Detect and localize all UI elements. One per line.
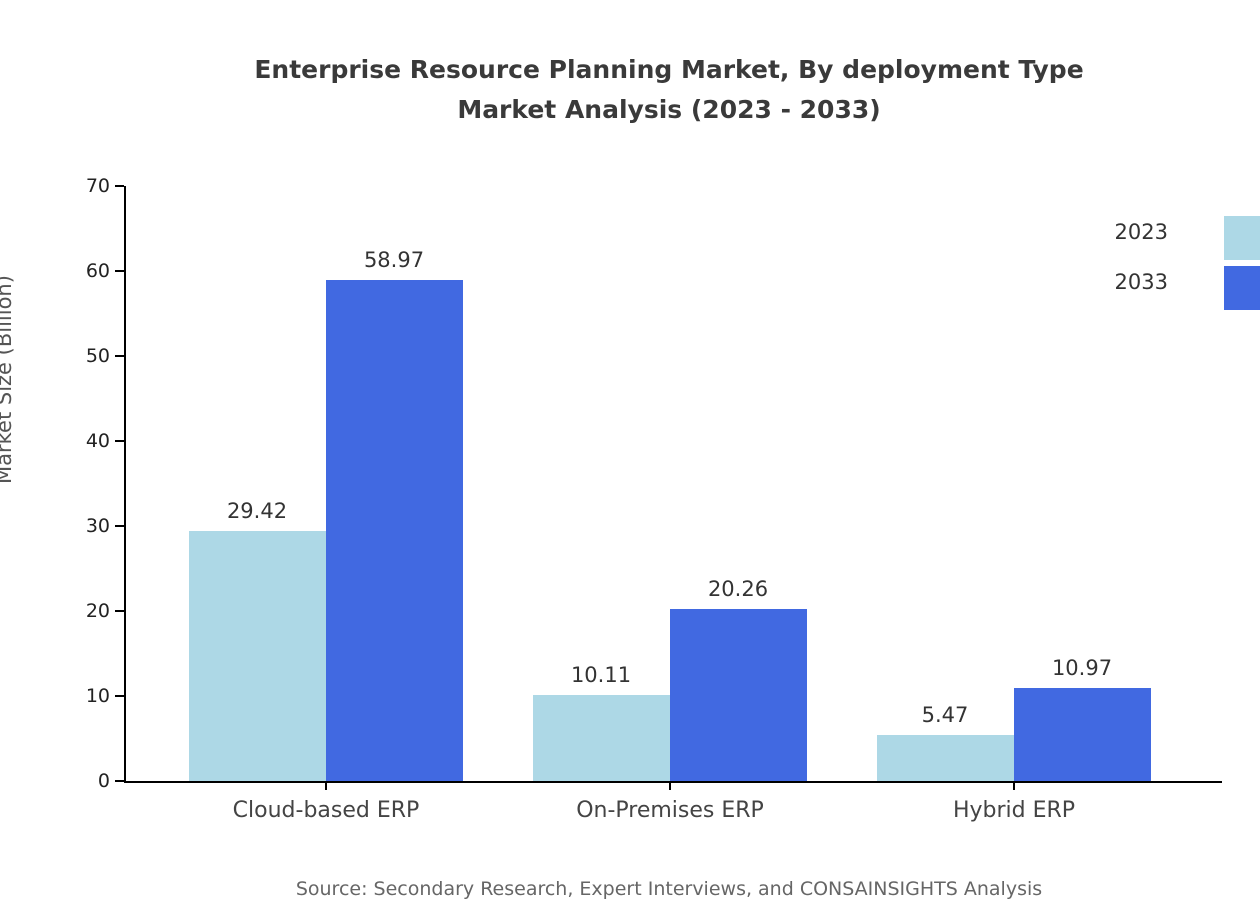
x-tick-cloud-based-erp <box>325 781 327 790</box>
plot-area: 0 10 20 30 40 50 60 70 Cloud-based ERP O… <box>124 186 1222 781</box>
y-tick-20 <box>115 610 124 612</box>
bar-value-2033-cloud-based-erp: 58.97 <box>364 248 424 272</box>
bar-value-2023-on-premises-erp: 10.11 <box>571 663 631 687</box>
x-axis-spine <box>124 781 1222 783</box>
y-tick-50 <box>115 355 124 357</box>
bar-2023-hybrid-erp[interactable] <box>877 735 1014 782</box>
legend-item-2023[interactable]: 2023 <box>1128 216 1260 266</box>
y-tick-label-40: 40 <box>86 430 110 452</box>
legend-label-2023: 2023 <box>1115 220 1168 244</box>
bar-value-2033-on-premises-erp: 20.26 <box>708 577 768 601</box>
bar-value-2033-hybrid-erp: 10.97 <box>1052 656 1112 680</box>
y-tick-label-0: 0 <box>98 770 110 792</box>
source-note: Source: Secondary Research, Expert Inter… <box>0 878 1260 900</box>
legend-label-2033: 2033 <box>1115 270 1168 294</box>
y-tick-label-20: 20 <box>86 600 110 622</box>
bar-2023-on-premises-erp[interactable] <box>533 695 670 781</box>
y-tick-30 <box>115 525 124 527</box>
y-tick-10 <box>115 695 124 697</box>
x-tick-on-premises-erp <box>669 781 671 790</box>
y-tick-70 <box>115 185 124 187</box>
chart-title: Enterprise Resource Planning Market, By … <box>0 50 1260 130</box>
chart-legend: 2023 2033 <box>1128 216 1260 316</box>
legend-item-2033[interactable]: 2033 <box>1128 266 1260 316</box>
bar-value-2023-hybrid-erp: 5.47 <box>922 703 969 727</box>
legend-swatch-2023 <box>1224 216 1260 260</box>
bar-2033-on-premises-erp[interactable] <box>670 609 807 781</box>
bar-2033-cloud-based-erp[interactable] <box>326 280 463 781</box>
y-tick-0 <box>115 780 124 782</box>
legend-swatch-2033 <box>1224 266 1260 310</box>
y-tick-40 <box>115 440 124 442</box>
x-tick-hybrid-erp <box>1013 781 1015 790</box>
x-tick-label-hybrid-erp: Hybrid ERP <box>953 798 1075 823</box>
bar-value-2023-cloud-based-erp: 29.42 <box>227 499 287 523</box>
chart-figure: Enterprise Resource Planning Market, By … <box>0 0 1260 920</box>
chart-title-line-2: Market Analysis (2023 - 2033) <box>0 90 1260 130</box>
y-tick-label-30: 30 <box>86 515 110 537</box>
x-tick-label-cloud-based-erp: Cloud-based ERP <box>233 798 420 823</box>
bar-2033-hybrid-erp[interactable] <box>1014 688 1151 781</box>
y-tick-label-50: 50 <box>86 345 110 367</box>
y-axis-spine <box>124 186 126 781</box>
bar-2023-cloud-based-erp[interactable] <box>189 531 326 781</box>
x-tick-label-on-premises-erp: On-Premises ERP <box>576 798 764 823</box>
y-tick-label-70: 70 <box>86 175 110 197</box>
y-tick-label-10: 10 <box>86 685 110 707</box>
y-axis-title: Market Size (Billion) <box>0 275 16 484</box>
chart-title-line-1: Enterprise Resource Planning Market, By … <box>0 50 1260 90</box>
y-tick-60 <box>115 270 124 272</box>
y-tick-label-60: 60 <box>86 260 110 282</box>
